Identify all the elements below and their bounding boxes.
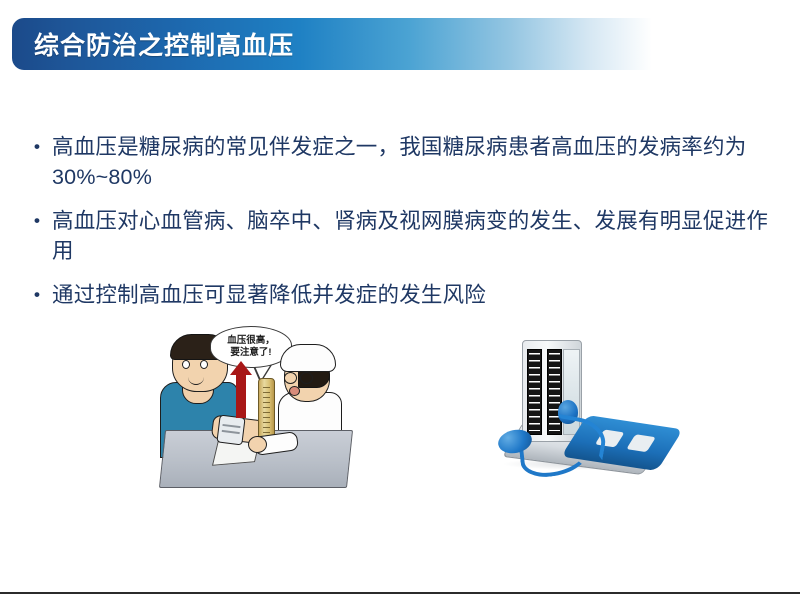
speech-bubble-line-1: 血压很高， — [227, 335, 275, 347]
list-item: • 高血压对心血管病、脑卒中、肾病及视网膜病变的发生、发展有明显促进作用 — [22, 206, 770, 266]
list-item: • 高血压是糖尿病的常见伴发症之一，我国糖尿病患者高血压的发病率约为30%~80… — [22, 132, 770, 192]
doctor-patient-cartoon: 血压很高， 要注意了! — [158, 326, 348, 486]
red-up-arrow-icon — [236, 374, 246, 418]
scale-ticks-left — [529, 353, 540, 431]
doctor-glasses-icon — [284, 372, 314, 383]
bullet-marker-icon: • — [22, 280, 52, 310]
sphygmomanometer-illustration — [498, 334, 683, 484]
doctor-hand — [248, 436, 267, 453]
page-title: 综合防治之控制高血压 — [34, 26, 294, 62]
slide-title-bar: 综合防治之控制高血压 — [12, 18, 652, 70]
illustration-area: 血压很高， 要注意了! — [0, 318, 800, 528]
patient-eye-right — [200, 360, 208, 369]
gauge-scale-marks — [263, 387, 270, 437]
bullet-text: 高血压对心血管病、脑卒中、肾病及视网膜病变的发生、发展有明显促进作用 — [52, 206, 770, 266]
doctor-mouth — [289, 386, 300, 396]
bullet-marker-icon: • — [22, 132, 52, 162]
doctor-cap — [280, 344, 336, 372]
list-item: • 通过控制高血压可显著降低并发症的发生风险 — [22, 280, 770, 310]
bullet-text: 高血压是糖尿病的常见伴发症之一，我国糖尿病患者高血压的发病率约为30%~80% — [52, 132, 770, 192]
bullet-marker-icon: • — [22, 206, 52, 236]
slide-canvas: 综合防治之控制高血压 • 高血压是糖尿病的常见伴发症之一，我国糖尿病患者高血压的… — [0, 0, 800, 594]
blood-pressure-cuff — [216, 415, 245, 446]
cuff-window-2 — [626, 434, 656, 452]
bullet-list: • 高血压是糖尿病的常见伴发症之一，我国糖尿病患者高血压的发病率约为30%~80… — [22, 132, 770, 324]
speech-bubble-line-2: 要注意了! — [230, 347, 271, 359]
patient-eye-left — [182, 360, 190, 369]
bullet-text: 通过控制高血压可显著降低并发症的发生风险 — [52, 280, 770, 310]
mercury-scale-left — [527, 349, 542, 435]
